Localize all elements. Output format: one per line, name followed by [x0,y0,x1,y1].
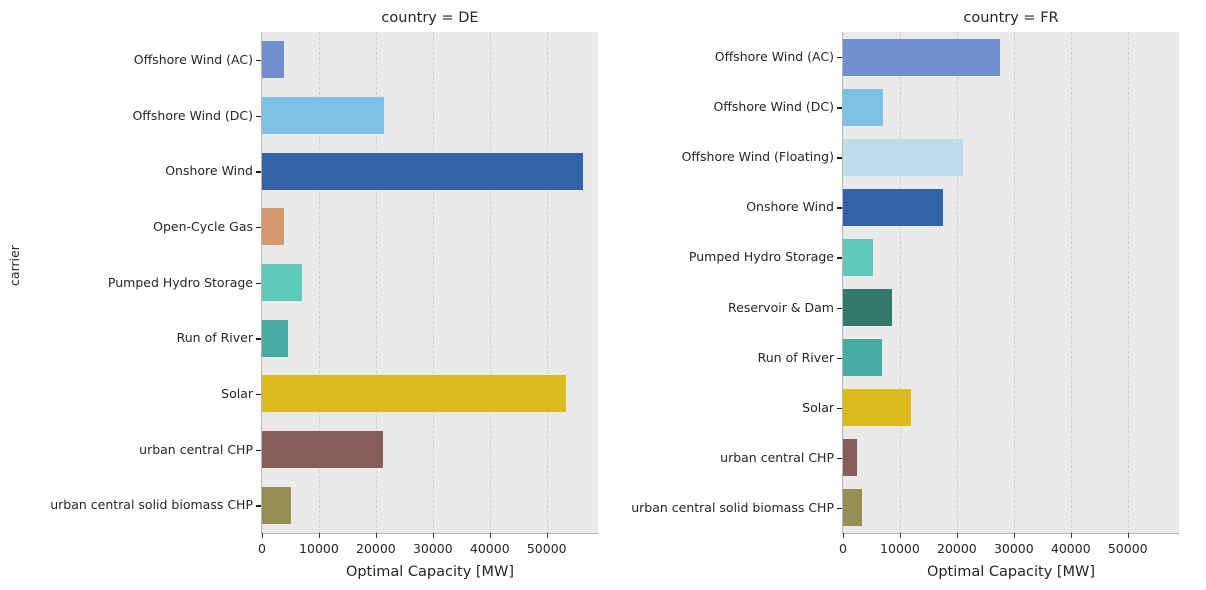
y-tick-mark [256,283,261,284]
y-tick-mark [256,394,261,395]
bar [843,139,963,176]
y-axis-spine-fr [842,32,843,533]
x-tick-mark [547,533,548,538]
bar [262,97,384,134]
y-tick-mark [837,207,842,208]
bar [262,41,284,78]
figure-canvas: carrier country = DE Offshore Wind (AC)O… [0,0,1206,590]
x-tick-mark [1014,533,1015,538]
bar [262,208,284,245]
x-axis-label-de: Optimal Capacity [MW] [262,562,598,582]
facet-title-fr: country = FR [843,7,1179,29]
x-tick-label: 50000 [1093,540,1163,557]
y-tick-label: Offshore Wind (AC) [603,49,834,65]
x-tick-mark [957,533,958,538]
y-tick-label: urban central solid biomass CHP [0,497,253,513]
y-tick-mark [256,116,261,117]
y-tick-label: Offshore Wind (AC) [0,52,253,68]
y-tick-label: Open-Cycle Gas [0,219,253,235]
y-tick-mark [837,308,842,309]
y-tick-mark [837,107,842,108]
y-tick-label: urban central CHP [603,450,834,466]
bar [262,375,566,412]
gridline-50000 [1128,32,1130,533]
y-tick-label: Solar [603,400,834,416]
y-tick-label: Reservoir & Dam [603,300,834,316]
bar [262,264,302,301]
y-tick-label: Onshore Wind [0,163,253,179]
gridline-50000 [547,32,549,533]
y-tick-mark [256,227,261,228]
y-tick-mark [256,60,261,61]
gridline-30000 [433,32,435,533]
x-axis-label-fr: Optimal Capacity [MW] [843,562,1179,582]
gridline-30000 [1014,32,1016,533]
bar [843,189,943,226]
x-tick-mark [433,533,434,538]
y-tick-label: urban central CHP [0,442,253,458]
bar [262,487,291,524]
bar [843,39,1000,76]
y-tick-label: Offshore Wind (DC) [603,99,834,115]
x-tick-mark [843,533,844,538]
bar [843,239,873,276]
y-tick-mark [837,508,842,509]
gridline-40000 [1071,32,1073,533]
facet-panel-de: country = DE Offshore Wind (AC)Offshore … [0,0,603,590]
y-tick-label: Pumped Hydro Storage [603,249,834,265]
bar [262,431,383,468]
y-axis-spine-de [261,32,262,533]
bar [262,320,288,357]
y-tick-mark [256,171,261,172]
bar [843,289,892,326]
bar [843,489,862,526]
y-tick-mark [837,57,842,58]
x-tick-mark [262,533,263,538]
y-tick-mark [837,458,842,459]
facet-panel-fr: country = FR Offshore Wind (AC)Offshore … [603,0,1206,590]
bar [843,339,882,376]
plot-area-fr [843,32,1179,533]
y-tick-label: Pumped Hydro Storage [0,275,253,291]
bar [262,153,583,190]
y-tick-label: Run of River [603,350,834,366]
y-tick-mark [256,338,261,339]
y-tick-mark [256,450,261,451]
y-tick-label: urban central solid biomass CHP [603,500,834,516]
x-tick-label: 50000 [512,540,582,557]
gridline-40000 [490,32,492,533]
bar [843,89,883,126]
x-tick-mark [376,533,377,538]
x-tick-mark [1071,533,1072,538]
gridline-20000 [957,32,959,533]
y-tick-mark [256,505,261,506]
bar [843,389,911,426]
y-tick-mark [837,358,842,359]
gridline-10000 [900,32,902,533]
y-tick-label: Onshore Wind [603,199,834,215]
x-tick-mark [1128,533,1129,538]
y-tick-mark [837,157,842,158]
x-tick-mark [319,533,320,538]
y-tick-label: Offshore Wind (Floating) [603,149,834,165]
y-tick-label: Run of River [0,330,253,346]
facet-title-de: country = DE [262,7,598,29]
y-tick-label: Offshore Wind (DC) [0,108,253,124]
y-tick-label: Solar [0,386,253,402]
y-tick-mark [837,257,842,258]
plot-area-de [262,32,598,533]
bar [843,439,857,476]
x-tick-mark [900,533,901,538]
y-tick-mark [837,408,842,409]
x-tick-mark [490,533,491,538]
